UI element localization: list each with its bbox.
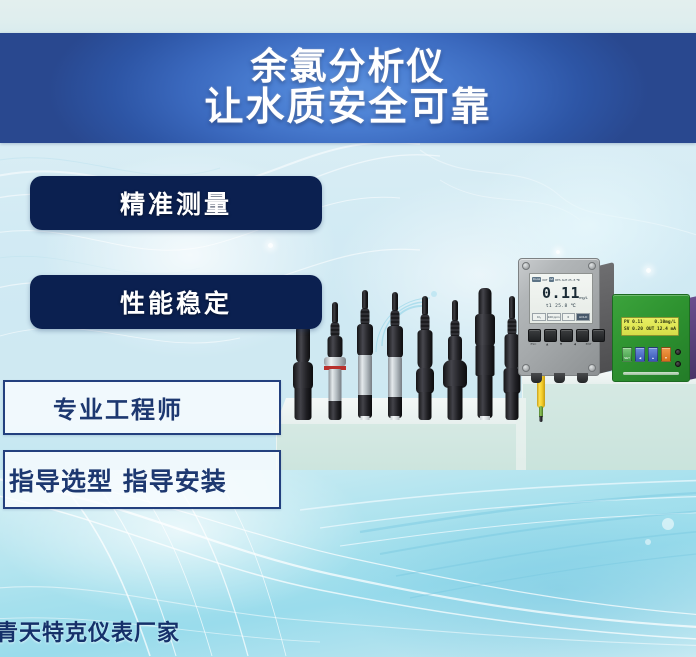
screw-icon [588,262,596,270]
key-label: ◀ [569,342,580,346]
lcd-tag: RES [555,278,560,282]
lcd-tag: mA [549,277,555,282]
cable-gland-icon [577,373,588,383]
lcd-secondary-reading: t1 25.8 ℃ [530,304,592,309]
feature-badge-label: 精准测量 [120,185,232,221]
meter-button-up[interactable]: ▲ [648,347,658,362]
lcd-bottom-cell: 100 ppm [547,313,561,321]
footer-brand-name: 青天特克仪表厂家 [0,615,180,647]
meter-button-left[interactable]: ◀ [635,347,645,362]
feature-box-professional-engineer[interactable]: 专业工程师 [3,380,281,435]
lcd-tag: Room [532,277,541,282]
screw-icon [522,364,530,372]
background-top-strip [0,0,696,33]
meter-led-indicator [675,361,681,367]
key-label: ▲ [542,342,553,346]
feature-box-label: 专业工程师 [5,390,183,425]
meter-led-indicator [675,349,681,355]
promo-banner-image: 余氯分析仪 让水质安全可靠 [0,0,696,657]
lcd-bottom-cell: HOLD [576,313,590,321]
controller-key-enter[interactable] [592,329,605,342]
feature-badge-accurate-measurement[interactable]: 精准测量 [30,176,322,230]
meter-pv-label: PV 0.11 [624,319,643,326]
meter-button-down[interactable]: ▼ [661,347,671,362]
lcd-tag: OUT [542,278,547,282]
panel-mount-meter: PV 0.11 0.10mg/L SV 0.20 OUT 12.4 mA SET… [612,294,690,382]
banner-title-line-1: 余氯分析仪 [251,47,446,86]
controller-housing: Room OUT mA RES ALM 25.8 ℃ 0.11 mg/L t1 … [518,258,600,376]
header-banner: 余氯分析仪 让水质安全可靠 [0,33,696,143]
lcd-tag: ALM [562,278,567,282]
feature-badge-stable-performance[interactable]: 性能稳定 [30,275,322,329]
probe-sensor [348,290,382,420]
key-label: ESC [528,342,539,346]
key-label: ▼ [556,342,567,346]
chlorine-analyzer-controller: Room OUT mA RES ALM 25.8 ℃ 0.11 mg/L t1 … [518,258,600,376]
lcd-status-tags: Room OUT mA RES ALM 25.8 ℃ [532,276,590,283]
meter-lcd-display: PV 0.11 0.10mg/L SV 0.20 OUT 12.4 mA [621,317,679,336]
controller-key-left[interactable] [576,329,589,342]
meter-out-value: OUT 12.4 mA [646,326,676,333]
probe-sensor [318,302,352,420]
controller-key-up[interactable] [544,329,557,342]
controller-key-down[interactable] [560,329,573,342]
controller-key-esc[interactable] [528,329,541,342]
banner-title-line-2: 让水质安全可靠 [204,87,491,128]
lcd-tag: ℃ [576,278,579,282]
meter-sv-label: SV 0.20 [624,326,643,333]
meter-front-panel: PV 0.11 0.10mg/L SV 0.20 OUT 12.4 mA SET… [612,294,690,382]
cable-gland-icon [531,373,542,383]
meter-button-set[interactable]: SET [622,347,632,362]
feature-box-label: 指导选型 指导安装 [5,462,227,498]
lcd-unit: mg/L [579,295,588,300]
screw-icon [522,262,530,270]
meter-button-row[interactable]: SET ◀ ▲ ▼ [622,347,671,362]
probe-sensor [378,292,412,420]
meter-bottom-trim [623,372,679,375]
lcd-tag: 25.8 [568,278,575,282]
key-label: ENT [583,342,594,346]
controller-key-labels: ESC ▲ ▼ ◀ ENT [528,342,594,346]
controller-lcd-display: Room OUT mA RES ALM 25.8 ℃ 0.11 mg/L t1 … [529,273,593,324]
lcd-bottom-cell: 0 [562,313,576,321]
controller-keypad[interactable] [528,329,605,342]
lcd-bottom-bar: Cl₂ 100 ppm 0 HOLD [532,313,590,321]
meter-pv-value: 0.10mg/L [654,319,676,326]
lcd-bottom-cell: Cl₂ [532,313,546,321]
feature-box-selection-installation-guidance[interactable]: 指导选型 指导安装 [3,450,281,509]
feature-badge-label: 性能稳定 [120,284,232,320]
screw-icon [588,364,596,372]
cable-gland-icon [554,373,565,383]
